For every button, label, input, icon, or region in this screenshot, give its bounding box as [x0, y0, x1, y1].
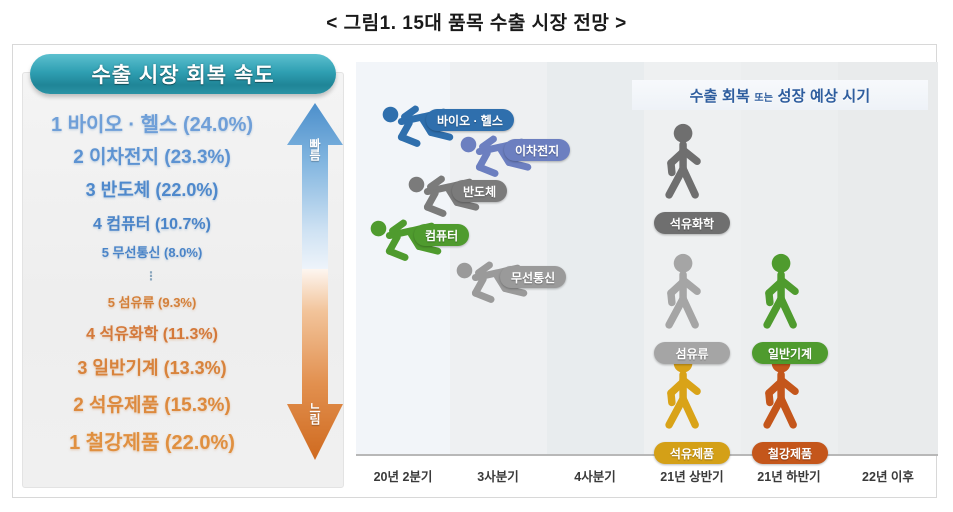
runner-label-pill: 무선통신	[500, 266, 566, 288]
recovery-speed-panel: 수출 시장 회복 속도 1 바이오 · 헬스 (24.0%)2 이차전지 (23…	[22, 54, 344, 488]
axis-tick-label: 21년 하반기	[734, 466, 844, 485]
timeline-axis-labels: 20년 2분기3사분기4사분기21년 상반기21년 하반기22년 이후	[356, 460, 938, 488]
timeline-axis-line	[356, 454, 938, 456]
timeline-header-small: 또는	[754, 93, 773, 104]
ranking-item: 4 석유화학 (11.3%)	[28, 320, 276, 344]
timeline-band	[838, 62, 938, 454]
ranking-item: 2 이차전지 (23.3%)	[28, 142, 276, 169]
timeline-header: 수출 회복 또는 성장 예상 시기	[632, 80, 928, 110]
walker-figure	[656, 352, 712, 438]
ranking-item: 1 철강제품 (22.0%)	[28, 426, 276, 455]
ranking-ellipsis: ⋮	[28, 272, 276, 280]
timeline-header-label: 수출 회복 또는 성장 예상 시기	[690, 85, 871, 106]
runner-label-pill: 반도체	[452, 180, 507, 202]
ranking-item: 5 섬유류 (9.3%)	[28, 292, 276, 311]
ranking-item: 2 석유제품 (15.3%)	[28, 390, 276, 417]
infographic-root: < 그림1. 15대 품목 수출 시장 전망 > 수출 시장 회복 속도 1 바…	[0, 0, 953, 512]
walker-label-pill: 섬유류	[654, 342, 730, 364]
ranking-item: 5 무선통신 (8.0%)	[28, 242, 276, 261]
walker-label-pill: 석유제품	[654, 442, 730, 464]
walker-figure	[656, 252, 712, 338]
timeline-band	[547, 62, 644, 454]
axis-tick-label: 20년 2분기	[348, 466, 458, 485]
recovery-speed-header: 수출 시장 회복 속도	[30, 54, 336, 94]
axis-tick-label: 4사분기	[540, 466, 650, 485]
walker-figure	[754, 252, 810, 338]
walker-icon	[656, 252, 712, 338]
slow-arrow: 느림	[284, 269, 346, 464]
fast-arrow: 빠름	[284, 99, 346, 274]
ranking-item: 4 컴퓨터 (10.7%)	[28, 210, 276, 234]
ranking-item: 1 바이오 · 헬스 (24.0%)	[28, 108, 276, 137]
timeline-header-main: 수출 회복	[690, 88, 755, 105]
fast-arrow-label: 빠름	[284, 123, 346, 175]
slow-arrow-label: 느림	[284, 387, 346, 439]
walker-label-pill: 철강제품	[752, 442, 828, 464]
walker-icon	[656, 352, 712, 438]
walker-figure	[754, 352, 810, 438]
recovery-speed-header-label: 수출 시장 회복 속도	[30, 54, 336, 94]
timeline-panel: 20년 2분기3사분기4사분기21년 상반기21년 하반기22년 이후 수출 회…	[356, 54, 938, 488]
runner-label-pill: 이차전지	[504, 139, 570, 161]
ranking-list: 1 바이오 · 헬스 (24.0%)2 이차전지 (23.3%)3 반도체 (2…	[28, 96, 276, 466]
ranking-item: 3 일반기계 (13.3%)	[28, 354, 276, 380]
walker-icon	[754, 352, 810, 438]
runner-label-pill: 컴퓨터	[414, 224, 469, 246]
timeline-header-tail: 성장 예상 시기	[773, 88, 870, 105]
walker-icon	[754, 252, 810, 338]
walker-label-pill: 석유화학	[654, 212, 730, 234]
page-title: < 그림1. 15대 품목 수출 시장 전망 >	[0, 8, 953, 35]
walker-label-pill: 일반기계	[752, 342, 828, 364]
axis-tick-label: 22년 이후	[833, 466, 943, 485]
runner-label-pill: 바이오 · 헬스	[426, 109, 514, 131]
axis-tick-label: 3사분기	[443, 466, 553, 485]
ranking-item: 3 반도체 (22.0%)	[28, 176, 276, 202]
walker-figure	[656, 122, 712, 208]
walker-icon	[656, 122, 712, 208]
axis-tick-label: 21년 상반기	[637, 466, 747, 485]
